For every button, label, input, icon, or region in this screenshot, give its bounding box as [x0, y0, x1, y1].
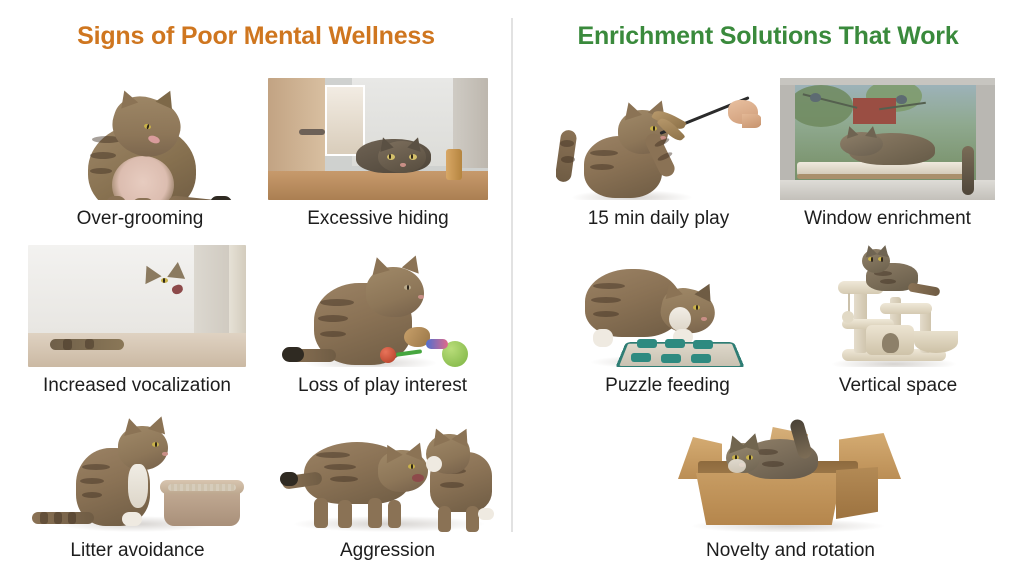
caption-aggression: Aggression — [280, 540, 495, 562]
two-cats-aggression-illustration — [280, 412, 495, 532]
toy-ball-red — [380, 347, 396, 363]
caption-excessive-hiding: Excessive hiding — [268, 208, 488, 230]
caption-vertical-space: Vertical space — [808, 375, 988, 397]
item-daily-play: 15 min daily play — [556, 78, 761, 230]
bird — [896, 95, 907, 104]
item-novelty-and-rotation: Novelty and rotation — [668, 415, 913, 562]
caption-novelty-and-rotation: Novelty and rotation — [668, 540, 913, 562]
cat-tree-platform — [880, 303, 932, 314]
item-window-enrichment: Window enrichment — [780, 78, 995, 230]
cat-feather-wand-illustration — [556, 78, 761, 200]
item-vertical-space: Vertical space — [808, 245, 988, 397]
caption-daily-play: 15 min daily play — [556, 208, 761, 230]
item-aggression: Aggression — [280, 412, 495, 562]
cat-vocalizing-photo — [28, 245, 246, 367]
caption-over-grooming: Over-grooming — [40, 208, 240, 230]
left-column-title: Signs of Poor Mental Wellness — [0, 22, 512, 51]
caption-litter-avoidance: Litter avoidance — [30, 540, 245, 562]
cat-tree-illustration — [808, 245, 988, 367]
item-litter-avoidance: Litter avoidance — [30, 412, 245, 562]
item-loss-of-play-interest: Loss of play interest — [280, 245, 485, 397]
cat-window-perch-photo — [780, 78, 995, 200]
item-increased-vocalization: Increased vocalization — [28, 245, 246, 397]
cat-in-box-illustration — [668, 415, 913, 532]
right-column-title: Enrichment Solutions That Work — [512, 22, 1024, 51]
caption-loss-of-play-interest: Loss of play interest — [280, 375, 485, 397]
cat-hiding-photo — [268, 78, 488, 200]
item-puzzle-feeding: Puzzle feeding — [565, 245, 770, 397]
caption-increased-vocalization: Increased vocalization — [28, 375, 246, 397]
item-excessive-hiding: Excessive hiding — [268, 78, 488, 230]
cat-litter-box-illustration — [30, 412, 245, 532]
cat-puzzle-feeder-illustration — [565, 245, 770, 367]
cat-tree-basket — [914, 331, 958, 353]
cat-grooming-illustration — [40, 78, 240, 200]
caption-puzzle-feeding: Puzzle feeding — [565, 375, 770, 397]
item-over-grooming: Over-grooming — [40, 78, 240, 230]
cardboard-box — [696, 473, 842, 525]
caption-window-enrichment: Window enrichment — [780, 208, 995, 230]
infographic-root: Signs of Poor Mental Wellness Enrichment… — [0, 0, 1024, 572]
toy-stripe — [426, 339, 448, 349]
bird — [810, 93, 821, 102]
column-divider — [511, 18, 513, 532]
cat-ignoring-toys-illustration — [280, 245, 485, 367]
